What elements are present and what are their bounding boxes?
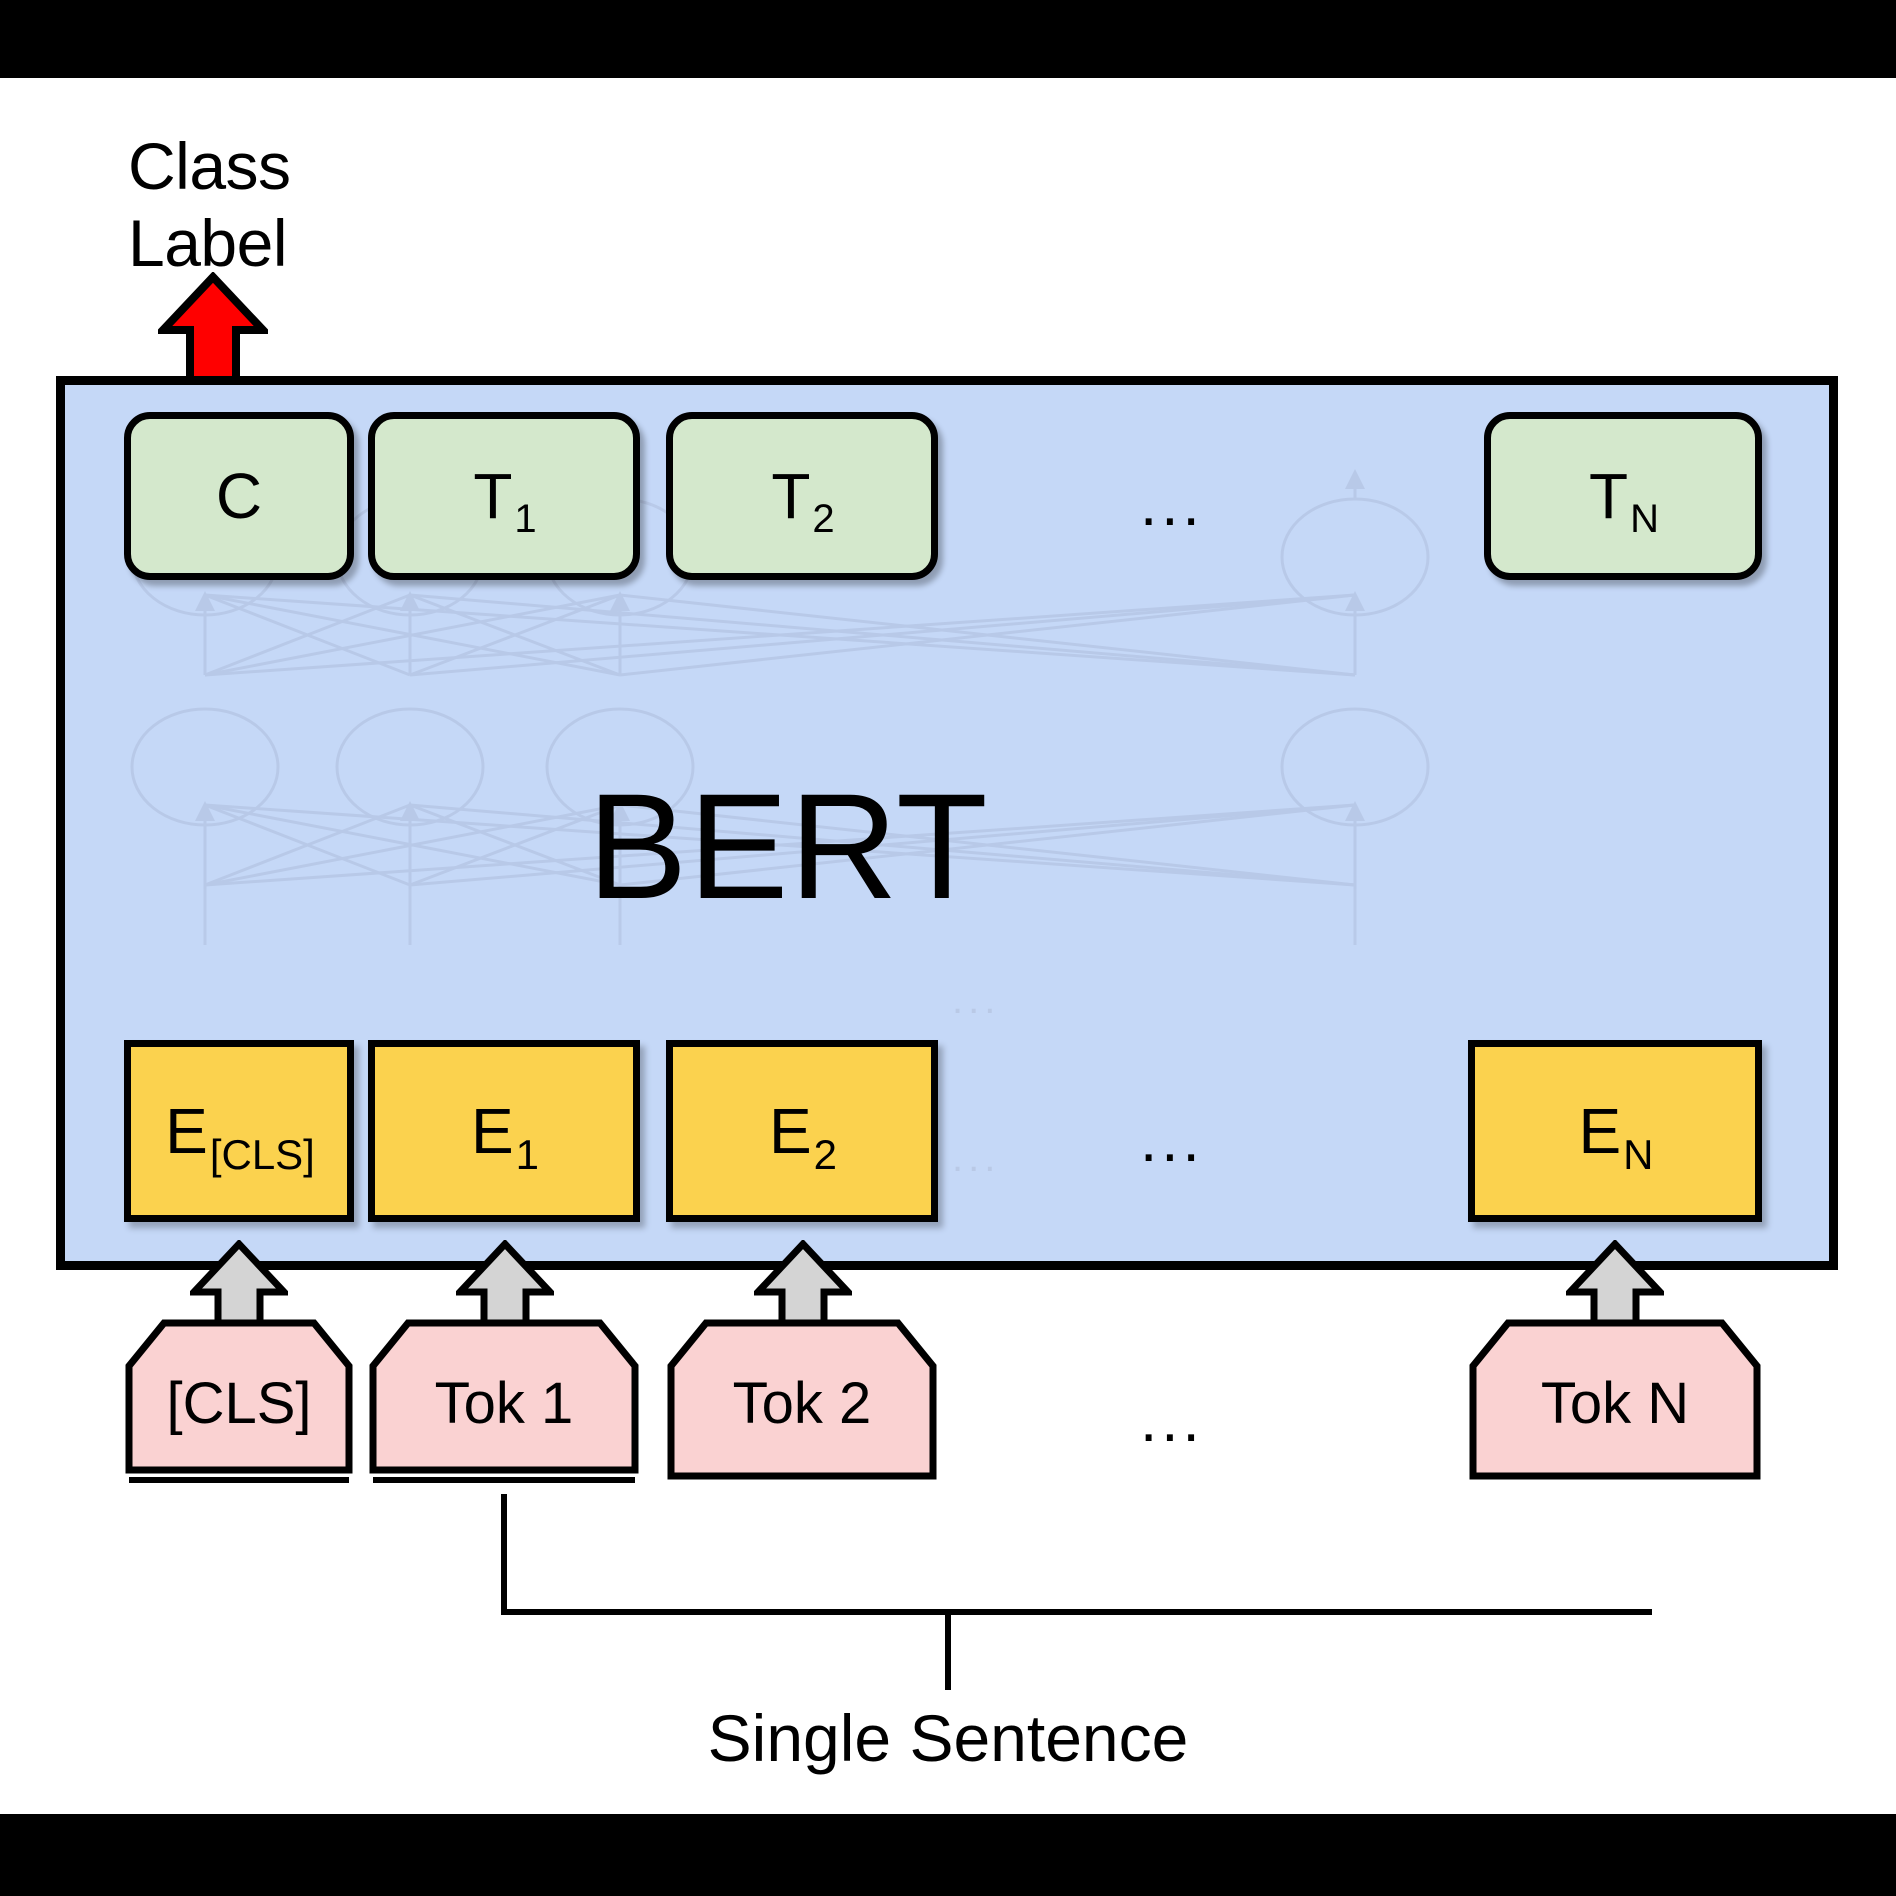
single-sentence-caption: Single Sentence <box>0 1700 1896 1776</box>
class-label-text: Class Label <box>128 128 548 281</box>
token-cell-tok2[interactable]: Tok 2 <box>666 1318 938 1490</box>
embedding-cell-ecls-label: E[CLS] <box>165 1099 313 1163</box>
token-cell-cls[interactable]: [CLS] <box>124 1318 354 1490</box>
output-cell-tn[interactable]: TN <box>1484 412 1762 580</box>
embedding-cell-e1[interactable]: E1 <box>368 1040 640 1222</box>
token-cell-cls-label: [CLS] <box>166 1375 311 1433</box>
token-cell-tok1[interactable]: Tok 1 <box>368 1318 640 1490</box>
embedding-cell-e2-label: E2 <box>769 1099 835 1163</box>
token-row-ellipsis: ... <box>1140 1390 1204 1452</box>
output-cell-tn-label: TN <box>1589 464 1657 528</box>
class-label-line-1: Class <box>128 128 548 205</box>
embedding-cell-en[interactable]: EN <box>1468 1040 1762 1222</box>
class-label-arrow-up-icon <box>158 272 268 390</box>
token-cell-tok1-label: Tok 1 <box>435 1375 574 1433</box>
bert-center-label: BERT <box>0 760 1736 933</box>
embedding-row-ellipsis: ... <box>1140 1110 1204 1172</box>
inner-ellipsis-lower: ... <box>952 1138 1000 1178</box>
inner-ellipsis-upper: ... <box>952 980 1000 1020</box>
embedding-cell-ecls[interactable]: E[CLS] <box>124 1040 354 1222</box>
output-cell-c[interactable]: C <box>124 412 354 580</box>
figure-canvas: Class Label <box>0 0 1896 1896</box>
output-row-ellipsis: ... <box>1140 474 1204 536</box>
embedding-cell-en-label: EN <box>1578 1099 1651 1163</box>
output-cell-t1[interactable]: T1 <box>368 412 640 580</box>
output-cell-t2[interactable]: T2 <box>666 412 938 580</box>
token-cell-tokn-label: Tok N <box>1541 1375 1689 1433</box>
token-cell-tokn[interactable]: Tok N <box>1468 1318 1762 1490</box>
output-cell-t2-label: T2 <box>771 464 832 528</box>
token-cell-tok2-label: Tok 2 <box>733 1375 872 1433</box>
class-label-line-2: Label <box>128 205 548 282</box>
embedding-cell-e1-label: E1 <box>471 1099 537 1163</box>
embedding-cell-e2[interactable]: E2 <box>666 1040 938 1222</box>
output-cell-c-label: C <box>216 464 262 528</box>
output-cell-t1-label: T1 <box>473 464 534 528</box>
